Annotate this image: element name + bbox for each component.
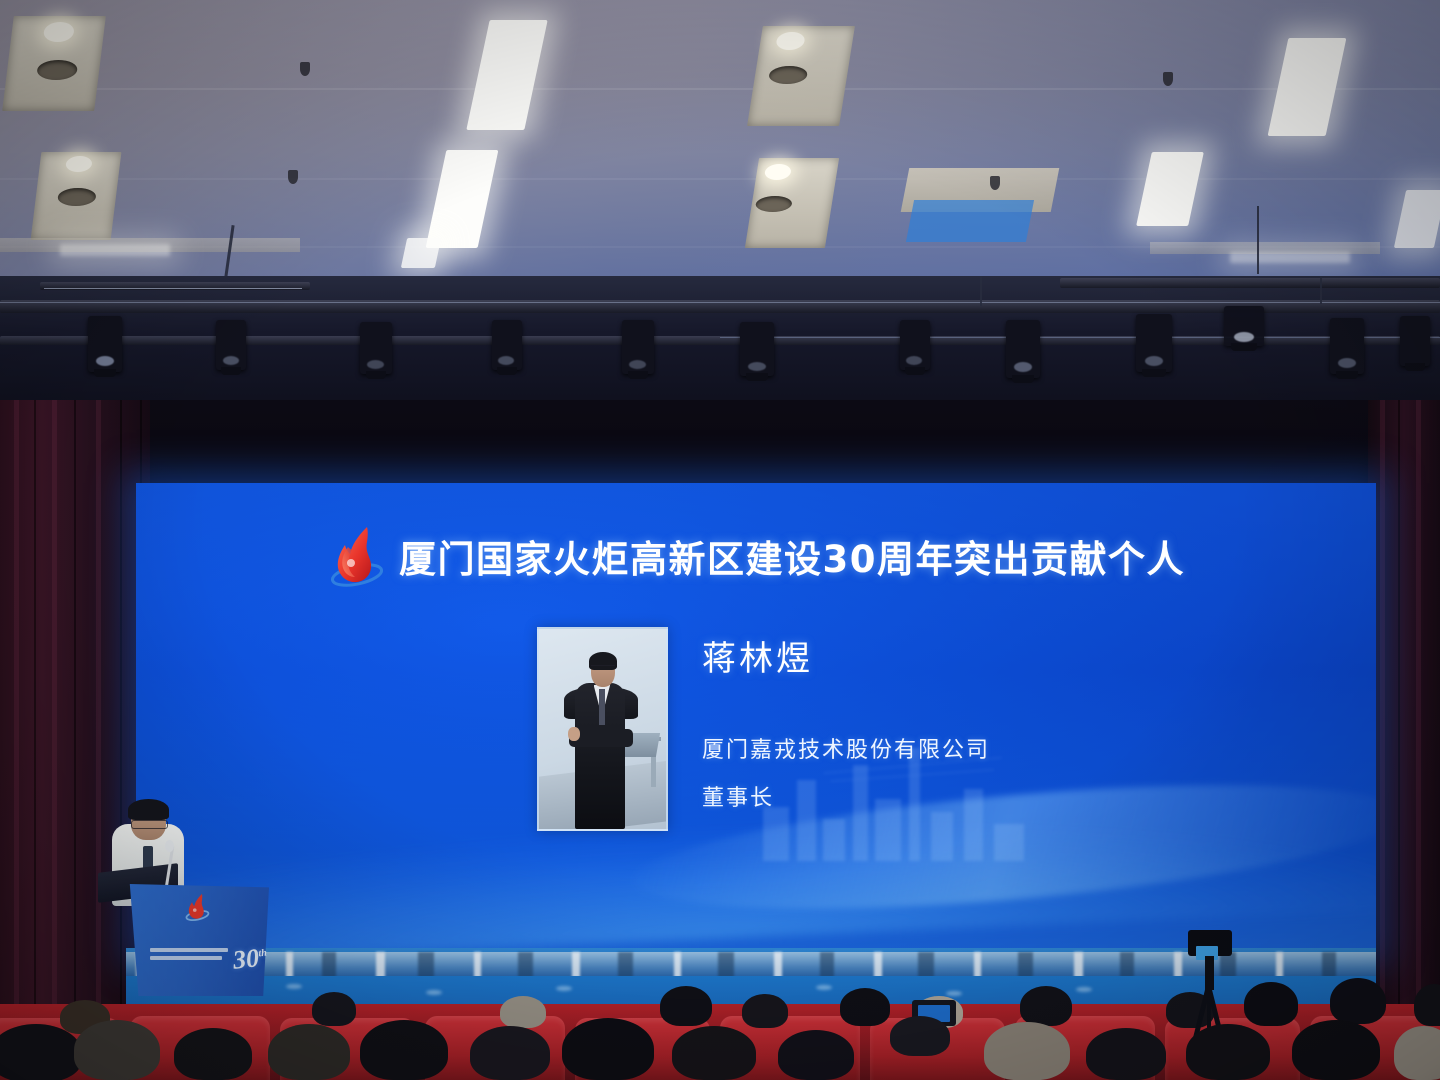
downlight-can bbox=[57, 188, 97, 206]
downlight-can bbox=[768, 66, 809, 84]
recessed-downlight bbox=[31, 152, 122, 240]
stage-light-lens bbox=[498, 356, 514, 365]
light-bulb bbox=[43, 22, 75, 42]
stage-light bbox=[1006, 320, 1040, 378]
stage-light bbox=[216, 320, 246, 370]
podium-banner-text bbox=[150, 948, 230, 964]
stage-curtain-left bbox=[0, 400, 150, 1040]
audience-head bbox=[174, 1028, 252, 1080]
sprinkler-head bbox=[300, 62, 310, 76]
stage-light-lens bbox=[906, 356, 922, 365]
stage-light bbox=[740, 322, 774, 376]
led-presentation-screen: 厦门国家火炬高新区建设30周年突出贡献个人 蒋林煜 厦门嘉戎技术股份有限公司 董… bbox=[136, 483, 1376, 955]
honoree-portrait bbox=[537, 627, 668, 831]
torch-logo bbox=[184, 892, 210, 922]
audience-head bbox=[470, 1026, 550, 1080]
podium-banner-line bbox=[150, 956, 222, 960]
stage-light-lens bbox=[1145, 356, 1163, 366]
ceiling-seam bbox=[0, 88, 1440, 90]
stage-light-lens bbox=[1234, 332, 1254, 342]
stage-light bbox=[900, 320, 930, 370]
audience-head bbox=[984, 1022, 1070, 1080]
audience-head bbox=[1086, 1028, 1166, 1080]
audience-head bbox=[672, 1026, 756, 1080]
stage-light-lens bbox=[367, 360, 384, 369]
light-bulb bbox=[65, 156, 93, 172]
stage-light-lens bbox=[748, 362, 766, 371]
award-title: 厦门国家火炬高新区建设30周年突出贡献个人 bbox=[399, 529, 1185, 583]
audience-head bbox=[0, 1024, 82, 1080]
anniversary-number: 30 bbox=[232, 943, 261, 975]
anniversary-badge: 30th bbox=[232, 942, 269, 975]
auditorium-ceiling bbox=[0, 0, 1440, 292]
stage-light bbox=[1136, 314, 1172, 372]
audience-head bbox=[742, 994, 788, 1028]
panel-light bbox=[401, 238, 441, 268]
proscenium-header bbox=[0, 400, 1440, 486]
audience-head bbox=[312, 992, 356, 1026]
audience-head bbox=[1330, 978, 1386, 1024]
audience-head bbox=[1292, 1020, 1380, 1080]
auditorium-scene: 厦门国家火炬高新区建设30周年突出贡献个人 蒋林煜 厦门嘉戎技术股份有限公司 董… bbox=[0, 0, 1440, 1080]
audience-head bbox=[1394, 1026, 1440, 1080]
stage-light-lens bbox=[96, 356, 114, 366]
audience-head bbox=[1414, 984, 1440, 1026]
recessed-downlight bbox=[745, 158, 839, 248]
ceiling-seam bbox=[0, 178, 1440, 180]
hanging-cable bbox=[980, 276, 982, 306]
audience-head bbox=[1186, 1024, 1270, 1080]
stage-light bbox=[88, 316, 122, 372]
sprinkler-head bbox=[1163, 72, 1173, 86]
downlight-can bbox=[36, 60, 78, 80]
stage-light bbox=[1400, 316, 1430, 366]
honoree-role: 董事长 bbox=[702, 780, 774, 812]
microphone-icon bbox=[165, 840, 174, 852]
hanging-cable bbox=[1257, 206, 1259, 274]
stage-curtain-right bbox=[1368, 400, 1440, 1040]
podium-banner-line bbox=[150, 948, 228, 952]
audience-head bbox=[840, 988, 890, 1026]
truss-highlight bbox=[44, 288, 302, 289]
honoree-organization: 厦门嘉戎技术股份有限公司 bbox=[702, 732, 990, 764]
ceiling-blue-panel bbox=[906, 200, 1034, 242]
sprinkler-head bbox=[288, 170, 298, 184]
audience-head bbox=[660, 986, 712, 1026]
stage-light-lens bbox=[1338, 358, 1356, 368]
audience-head bbox=[1020, 986, 1072, 1026]
sprinkler-head bbox=[990, 176, 1000, 190]
recessed-downlight bbox=[747, 26, 855, 126]
video-camera-tripod bbox=[1150, 930, 1270, 1040]
hanging-cable bbox=[1320, 276, 1322, 304]
truss-bar bbox=[1060, 278, 1440, 288]
stage-light-lens bbox=[1014, 362, 1032, 372]
screen-title-row: 厦门国家火炬高新区建设30周年突出贡献个人 bbox=[136, 525, 1376, 587]
audience-head bbox=[890, 1016, 950, 1056]
audience-head bbox=[562, 1018, 654, 1080]
audience-head bbox=[778, 1030, 854, 1080]
panel-light bbox=[1230, 252, 1350, 263]
glasses-icon bbox=[131, 820, 168, 829]
stage-light bbox=[1224, 306, 1264, 346]
torch-logo bbox=[327, 525, 385, 587]
light-bulb bbox=[764, 164, 793, 180]
downlight-can bbox=[755, 196, 794, 212]
recessed-downlight bbox=[2, 16, 106, 111]
audience-head bbox=[74, 1020, 160, 1080]
presenter-hair bbox=[128, 799, 169, 820]
panel-light bbox=[60, 244, 170, 256]
anniversary-suffix: th bbox=[258, 948, 267, 960]
audience-head bbox=[360, 1020, 448, 1080]
stage-light-lens bbox=[629, 360, 646, 369]
light-bulb bbox=[775, 32, 806, 50]
stage-light bbox=[622, 320, 654, 374]
audience-head bbox=[268, 1024, 350, 1080]
stage-light bbox=[360, 322, 392, 374]
audience-head bbox=[500, 996, 546, 1028]
stage-light bbox=[1330, 318, 1364, 374]
truss-highlight bbox=[0, 302, 1440, 303]
honoree-name: 蒋林煜 bbox=[702, 631, 813, 680]
stage-light bbox=[492, 320, 522, 370]
stage-light-lens bbox=[223, 356, 239, 365]
